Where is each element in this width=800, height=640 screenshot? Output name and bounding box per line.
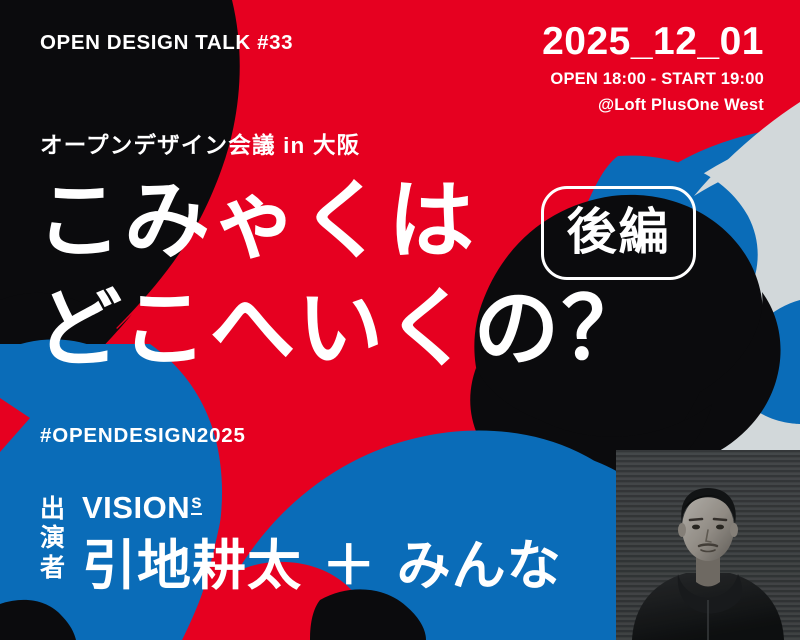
headline-line-1: こみゃくは	[36, 178, 476, 264]
performer-label: 出 演 者	[36, 492, 70, 582]
organization-name: VISION	[82, 492, 190, 523]
event-time: OPEN 18:00 - START 19:00	[542, 70, 764, 89]
speaker-portrait	[616, 450, 800, 640]
headline-line-2: どこへいくの？	[36, 286, 649, 372]
performer-label-char-3: 者	[36, 553, 70, 582]
performer-details: VISION s 引地耕太 ＋ みんな	[82, 492, 562, 593]
performer-organization: VISION s	[82, 492, 562, 528]
organization-superscript: s	[191, 493, 202, 515]
event-poster: OPEN DESIGN TALK #33 2025_12_01 OPEN 18:…	[0, 0, 800, 640]
performer-label-char-1: 出	[36, 494, 70, 523]
performer-block: 出 演 者 VISION s 引地耕太 ＋ みんな	[36, 492, 562, 593]
event-hashtag: #OPENDESIGN2025	[40, 424, 246, 448]
performer-label-char-2: 演	[36, 523, 70, 552]
speaker-portrait-image	[616, 450, 800, 640]
part-badge: 後編	[541, 186, 696, 280]
event-subtitle: オープンデザイン会議 in 大阪	[40, 128, 360, 160]
event-venue: @Loft PlusOne West	[542, 96, 764, 115]
event-date: 2025_12_01	[542, 22, 764, 61]
schedule-block: 2025_12_01 OPEN 18:00 - START 19:00 @Lof…	[542, 22, 764, 115]
part-badge-label: 後編	[567, 207, 671, 257]
performer-name: 引地耕太 ＋ みんな	[82, 539, 562, 593]
series-label: OPEN DESIGN TALK #33	[40, 31, 293, 55]
